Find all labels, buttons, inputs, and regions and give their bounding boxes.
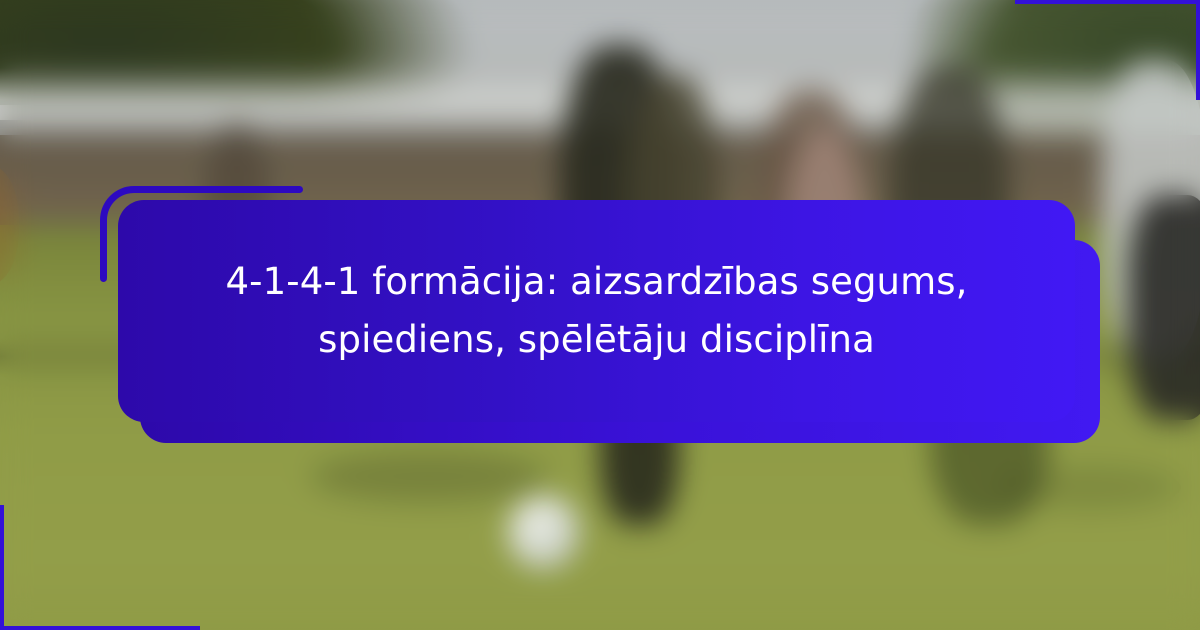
headline-container: 4-1-4-1 formācija: aizsardzības segums, … xyxy=(118,200,1075,422)
page-title: 4-1-4-1 formācija: aizsardzības segums, … xyxy=(188,253,1005,370)
social-card-canvas: 4-1-4-1 formācija: aizsardzības segums, … xyxy=(0,0,1200,630)
